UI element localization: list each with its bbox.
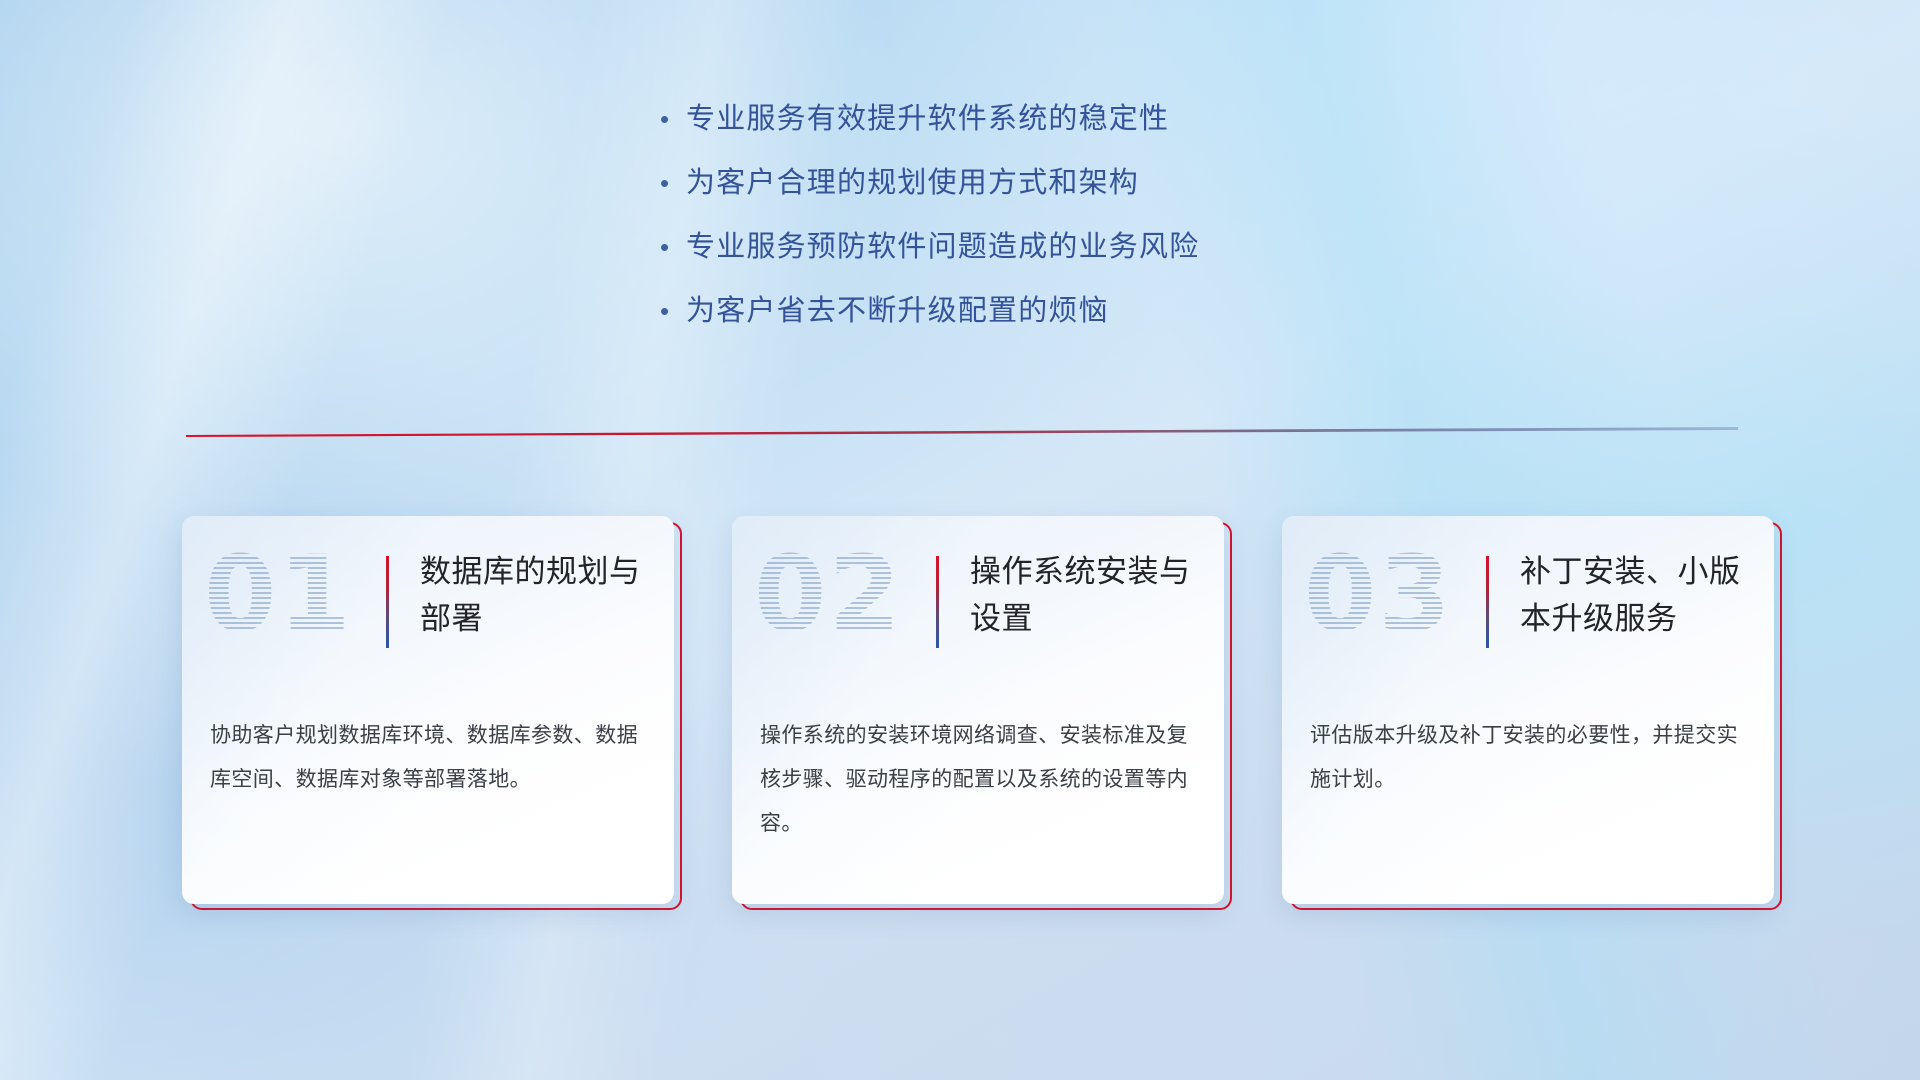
card-header: 01 数据库的规划与部署 (182, 516, 674, 692)
bullet-dot-icon: • (660, 96, 686, 142)
card-title: 数据库的规划与部署 (420, 548, 660, 642)
card-title: 操作系统安装与设置 (970, 548, 1210, 642)
list-item: • 为客户省去不断升级配置的烦恼 (660, 288, 1420, 352)
section-divider (186, 424, 1738, 442)
list-item: • 专业服务有效提升软件系统的稳定性 (660, 96, 1420, 160)
card-accent-rule (386, 556, 389, 648)
bullet-text: 专业服务有效提升软件系统的稳定性 (686, 96, 1169, 142)
list-item: • 为客户合理的规划使用方式和架构 (660, 160, 1420, 224)
service-card[interactable]: 02 操作系统安装与设置 操作系统的安装环境网络调查、安装标准及复核步骤、驱动程… (732, 516, 1224, 904)
bullet-dot-icon: • (660, 160, 686, 206)
divider-wedge-icon (186, 424, 1738, 442)
card-panel: 02 操作系统安装与设置 操作系统的安装环境网络调查、安装标准及复核步骤、驱动程… (732, 516, 1224, 904)
bullet-text: 专业服务预防软件问题造成的业务风险 (686, 224, 1199, 270)
card-panel: 01 数据库的规划与部署 协助客户规划数据库环境、数据库参数、数据库空间、数据库… (182, 516, 674, 904)
card-panel: 03 补丁安装、小版本升级服务 评估版本升级及补丁安装的必要性，并提交实施计划。 (1282, 516, 1774, 904)
benefits-bullet-list: • 专业服务有效提升软件系统的稳定性 • 为客户合理的规划使用方式和架构 • 专… (660, 96, 1420, 352)
bullet-dot-icon: • (660, 288, 686, 334)
card-number-watermark: 03 (1304, 532, 1453, 656)
service-card[interactable]: 01 数据库的规划与部署 协助客户规划数据库环境、数据库参数、数据库空间、数据库… (182, 516, 674, 904)
service-card[interactable]: 03 补丁安装、小版本升级服务 评估版本升级及补丁安装的必要性，并提交实施计划。 (1282, 516, 1774, 904)
card-header: 03 补丁安装、小版本升级服务 (1282, 516, 1774, 692)
bullet-text: 为客户合理的规划使用方式和架构 (686, 160, 1139, 206)
list-item: • 专业服务预防软件问题造成的业务风险 (660, 224, 1420, 288)
service-card-group: 01 数据库的规划与部署 协助客户规划数据库环境、数据库参数、数据库空间、数据库… (182, 516, 1782, 916)
bullet-text: 为客户省去不断升级配置的烦恼 (686, 288, 1109, 334)
card-description: 操作系统的安装环境网络调查、安装标准及复核步骤、驱动程序的配置以及系统的设置等内… (760, 714, 1196, 846)
card-title: 补丁安装、小版本升级服务 (1520, 548, 1760, 642)
card-accent-rule (1486, 556, 1489, 648)
card-number-watermark: 02 (754, 532, 903, 656)
card-accent-rule (936, 556, 939, 648)
slide-canvas: • 专业服务有效提升软件系统的稳定性 • 为客户合理的规划使用方式和架构 • 专… (0, 0, 1920, 1080)
bullet-dot-icon: • (660, 224, 686, 270)
card-number-watermark: 01 (204, 532, 353, 656)
card-description: 评估版本升级及补丁安装的必要性，并提交实施计划。 (1310, 714, 1746, 802)
card-description: 协助客户规划数据库环境、数据库参数、数据库空间、数据库对象等部署落地。 (210, 714, 646, 802)
card-header: 02 操作系统安装与设置 (732, 516, 1224, 692)
